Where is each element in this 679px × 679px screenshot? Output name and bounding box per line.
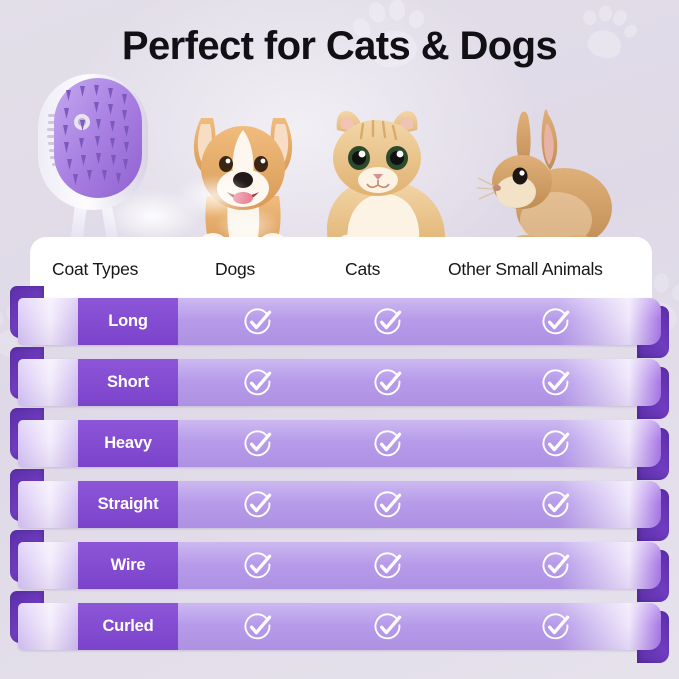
- column-header-dogs: Dogs: [215, 259, 255, 280]
- check-circle-icon: [541, 612, 571, 642]
- check-circle-icon: [541, 551, 571, 581]
- hero-image-row: [0, 76, 679, 256]
- check-circle-icon: [373, 307, 403, 337]
- table-row: Heavy: [0, 420, 679, 467]
- check-circle-icon: [373, 612, 403, 642]
- coat-type-label: Long: [78, 298, 178, 345]
- check-circle-icon: [541, 429, 571, 459]
- coat-type-label: Heavy: [78, 420, 178, 467]
- check-circle-icon: [541, 490, 571, 520]
- check-circle-icon: [243, 429, 273, 459]
- table-row: Short: [0, 359, 679, 406]
- check-circle-icon: [243, 368, 273, 398]
- ribbon-band: Long: [18, 298, 661, 345]
- ribbon-band: Wire: [18, 542, 661, 589]
- coat-type-label: Wire: [78, 542, 178, 589]
- check-circle-icon: [373, 551, 403, 581]
- column-header-cats: Cats: [345, 259, 380, 280]
- rabbit-image: [472, 104, 624, 256]
- check-circle-icon: [541, 307, 571, 337]
- cat-image: [303, 96, 455, 256]
- check-circle-icon: [243, 307, 273, 337]
- table-row: Straight: [0, 481, 679, 528]
- check-circle-icon: [243, 612, 273, 642]
- coat-type-label: Straight: [78, 481, 178, 528]
- table-header-row: Coat Types Dogs Cats Other Small Animals: [30, 259, 652, 293]
- coat-type-label: Curled: [78, 603, 178, 650]
- check-circle-icon: [243, 490, 273, 520]
- column-header-coat-types: Coat Types: [52, 259, 138, 280]
- table-row: Long: [0, 298, 679, 345]
- table-row: Wire: [0, 542, 679, 589]
- ribbon-band: Heavy: [18, 420, 661, 467]
- coat-type-label: Short: [78, 359, 178, 406]
- coat-type-rows: LongShortHeavyStraightWireCurled: [0, 298, 679, 679]
- ribbon-band: Curled: [18, 603, 661, 650]
- table-header-card: Coat Types Dogs Cats Other Small Animals: [30, 237, 652, 307]
- table-row: Curled: [0, 603, 679, 650]
- ribbon-band: Straight: [18, 481, 661, 528]
- ribbon-band: Short: [18, 359, 661, 406]
- check-circle-icon: [373, 429, 403, 459]
- check-circle-icon: [373, 490, 403, 520]
- check-circle-icon: [243, 551, 273, 581]
- page-title: Perfect for Cats & Dogs: [0, 24, 679, 69]
- check-circle-icon: [373, 368, 403, 398]
- column-header-other-small-animals: Other Small Animals: [448, 259, 603, 280]
- check-circle-icon: [541, 368, 571, 398]
- promo-graphic: Perfect for Cats & Dogs: [0, 0, 679, 679]
